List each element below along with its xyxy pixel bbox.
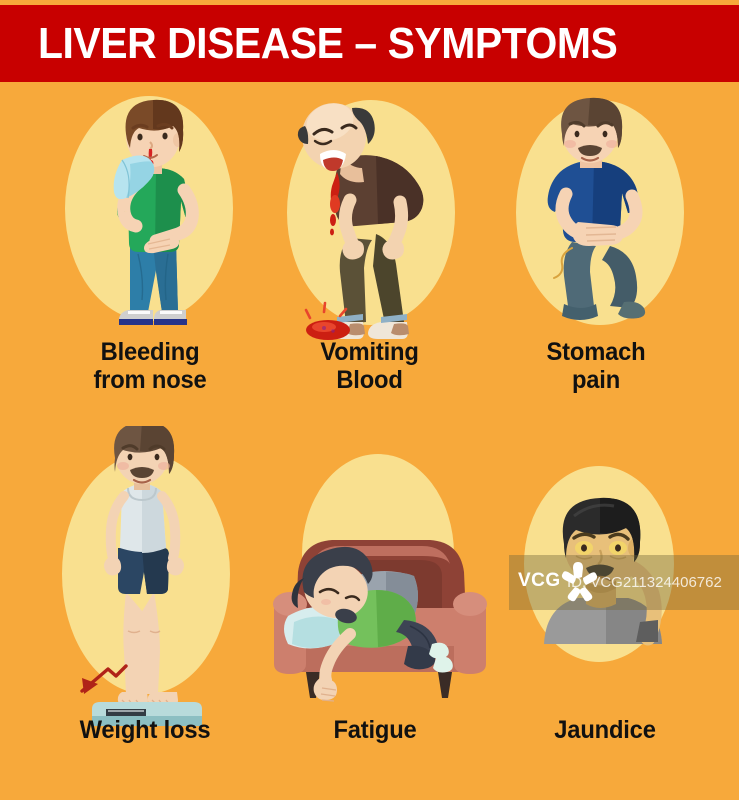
symptom-card-stomach-pain[interactable]: Stomach pain [486,86,706,426]
watermark-brand: VCG [518,570,561,592]
watermark-burst-icon [558,560,602,604]
title-banner: LIVER DISEASE – SYMPTOMS [0,5,739,82]
label-line-1: Stomach [492,338,701,366]
illustration-fatigue [260,506,500,716]
label-line-1: Vomiting [267,338,471,366]
symptom-card-vomiting-blood[interactable]: Vomiting Blood [262,86,477,426]
label-line-2: from nose [46,366,255,394]
label-line-1: Weight loss [36,716,255,744]
illustration-weight-loss [70,426,230,726]
infographic-canvas: LIVER DISEASE – SYMPTOMS [0,0,739,800]
symptom-label-vomiting-blood: Vomiting Blood [267,338,471,394]
down-arrow-icon [82,666,126,694]
symptom-label-weight-loss: Weight loss [36,716,255,744]
label-line-2: pain [492,366,701,394]
symptom-grid: Bleeding from nose [0,86,739,800]
symptom-label-bleeding-from-nose: Bleeding from nose [46,338,255,394]
illustration-bleeding-from-nose [78,94,228,346]
symptom-label-fatigue: Fatigue [256,716,494,744]
illustration-vomiting-blood [280,92,460,346]
symptom-card-fatigue[interactable]: Fatigue [250,426,500,756]
symptom-card-weight-loss[interactable]: Weight loss [30,426,260,756]
label-line-2: Blood [267,366,471,394]
page-title: LIVER DISEASE – SYMPTOMS [38,19,617,69]
illustration-stomach-pain [514,96,690,344]
label-line-1: Jaundice [505,716,705,744]
symptom-label-jaundice: Jaundice [505,716,705,744]
label-line-1: Fatigue [256,716,494,744]
label-line-1: Bleeding [46,338,255,366]
symptom-card-bleeding-from-nose[interactable]: Bleeding from nose [40,86,260,426]
symptom-label-stomach-pain: Stomach pain [492,338,701,394]
